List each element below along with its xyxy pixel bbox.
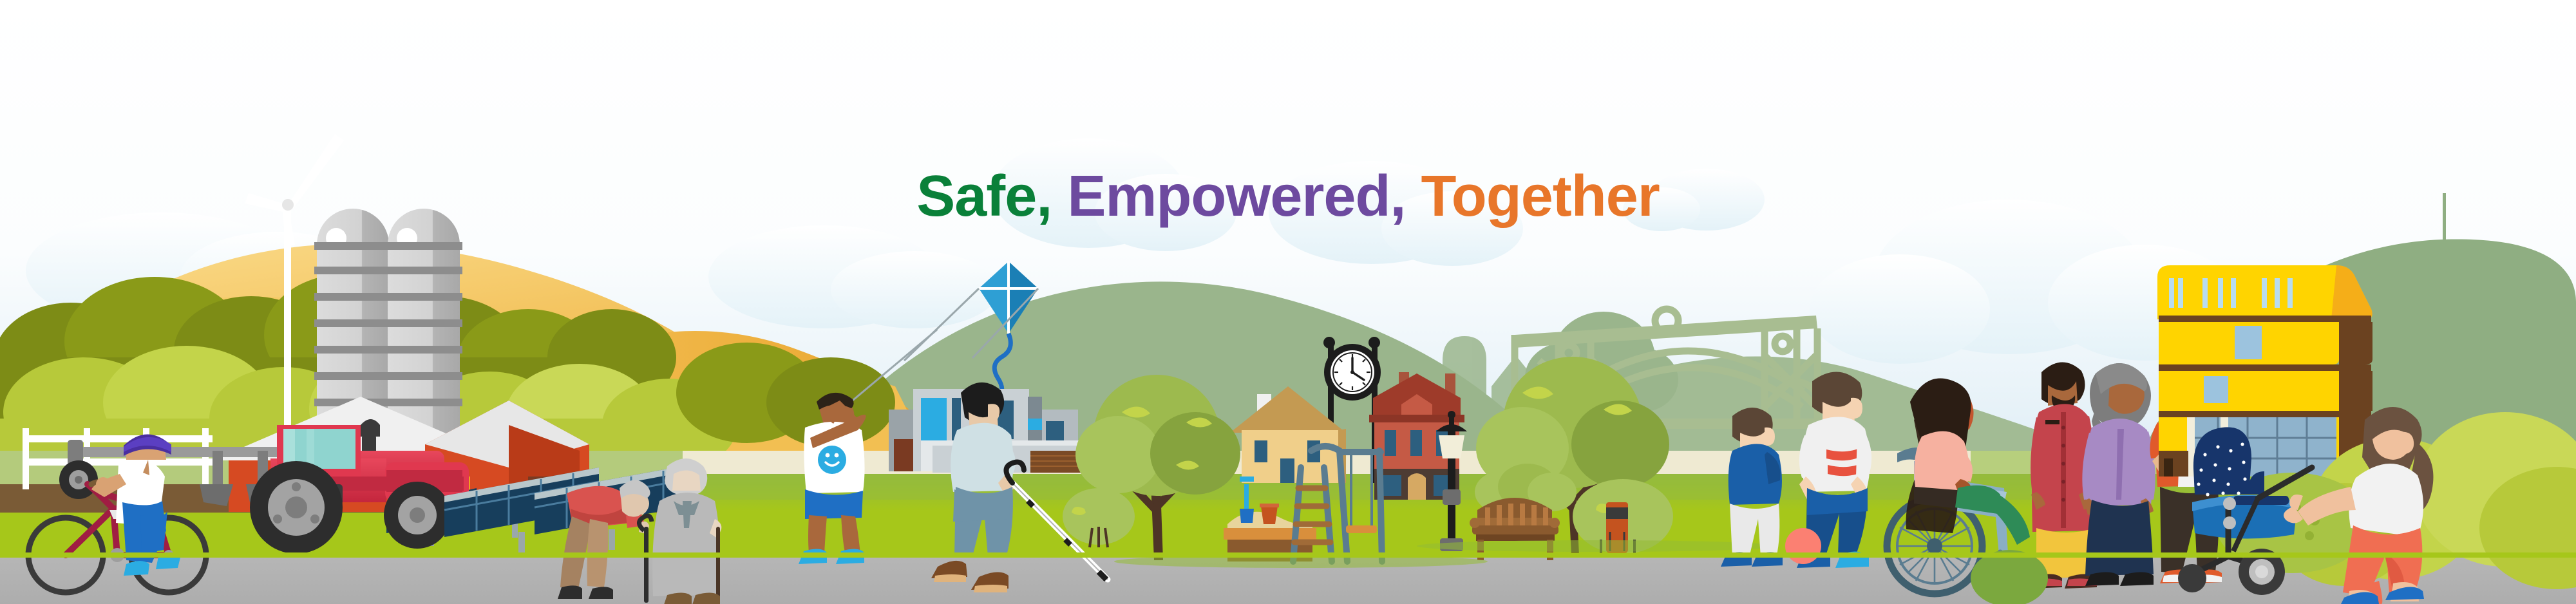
pram-front-wheel [2178,564,2206,592]
cloud-icon [1381,191,1523,266]
wrekin-mast-icon [2443,193,2446,243]
cloud-icon [1810,254,1990,364]
walking-stick [716,527,720,603]
smiley-face-icon [818,446,846,474]
scene-illustration [0,0,2576,604]
cloud-icon [831,251,998,328]
walking-stick [644,527,649,603]
bush-left-edge [1971,550,2048,604]
community-building [2157,265,2372,477]
bench-area-shadow [1417,540,1777,552]
grass-road-edge [0,552,2576,558]
cloud-icon [1095,174,1236,251]
cloud-icon [1623,187,1700,231]
community-banner: Safe, Empowered, Together [0,0,2576,604]
football [1785,528,1821,564]
